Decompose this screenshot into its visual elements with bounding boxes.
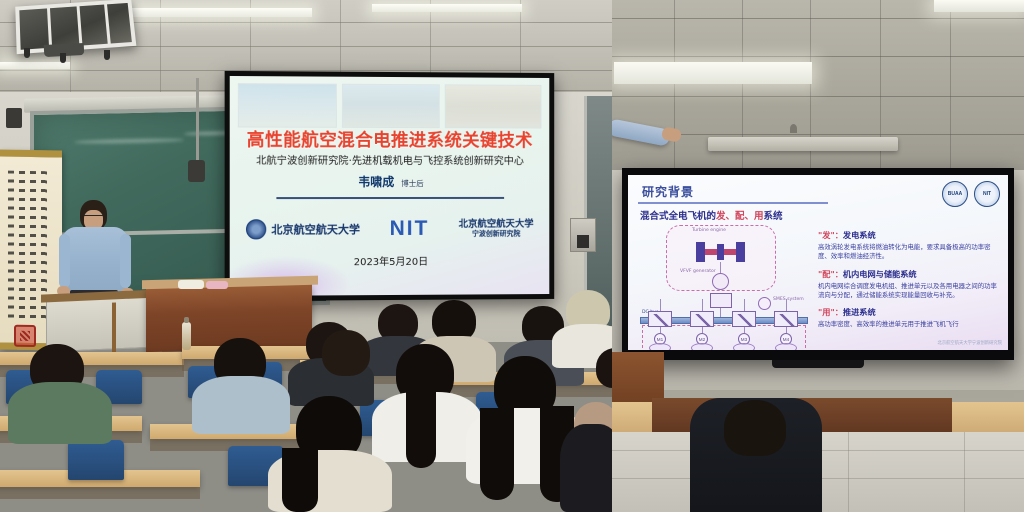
slide-divider	[276, 197, 504, 199]
motor-array: M1 M2 M3	[640, 309, 808, 350]
ac-dc-converter	[710, 293, 732, 308]
slide-logo-row: 北京航空航天大学 NIT 北京航空航天大学 宁波创新研究院	[246, 211, 534, 248]
propeller-3	[733, 343, 755, 350]
audience-ponytail	[406, 392, 436, 468]
projector-mount-foot	[104, 50, 110, 60]
slide2-subtitle: 混合式全电飞机的发、配、用系统	[640, 208, 783, 222]
section-heading-3: "用"：推进系统	[818, 306, 1000, 318]
slide-subtitle: 北航宁波创新研究院·先进机载机电与飞控系统创新研究中心	[230, 152, 550, 167]
wall-mounted-display[interactable]: 研究背景 混合式全电飞机的发、配、用系统 BUAA NIT Turbine en…	[622, 168, 1014, 360]
scroll-seal	[14, 325, 36, 347]
buaa-logo: 北京航空航天大学	[246, 219, 360, 239]
presenter-glasses	[84, 215, 103, 219]
section-3-quote: "用"：	[818, 307, 843, 317]
left-photo-panel: 高性能航空混合电推进系统关键技术 北航宁波创新研究院·先进机载机电与飞控系统创新…	[0, 0, 612, 512]
section-body-1: 高效涡轮发电系统将燃油转化为电能，要求具备极高的功率密度、效率和燃油经济性。	[818, 243, 1000, 262]
presenter-shirt	[62, 227, 128, 297]
audience-hair-fall	[480, 408, 514, 500]
audience-head	[322, 330, 370, 376]
audience-shoulders	[560, 424, 612, 512]
banner-photo-campus-gate	[238, 83, 337, 128]
audience-hair-fall	[282, 448, 318, 512]
slide-banner-photos	[238, 83, 542, 128]
section-2-quote: "配"：	[818, 269, 843, 279]
slide-research-background: 研究背景 混合式全电飞机的发、配、用系统 BUAA NIT Turbine en…	[628, 175, 1008, 350]
inverter-4	[774, 311, 798, 327]
banner-photo-campus-aerial	[342, 84, 440, 128]
presenter-left-arm	[59, 234, 70, 288]
nit-logo-text: NIT	[390, 217, 430, 241]
seated-attendee-head	[724, 400, 786, 456]
banner-photo-laboratory	[445, 84, 542, 128]
presenter-right-arm	[120, 234, 131, 288]
slide2-logo-row: BUAA NIT	[942, 181, 1000, 207]
slide-title: 高性能航空混合电推进系统关键技术	[230, 126, 550, 152]
buaa-seal-icon: BUAA	[942, 181, 968, 207]
presenter-name: 韦啸成	[358, 175, 394, 189]
generator-label: VFVF generator	[680, 269, 716, 274]
slide2-divider	[638, 202, 828, 204]
slide2-subtitle-tail: 系统	[764, 211, 783, 222]
audience-shoulders	[8, 382, 112, 444]
ceiling-light-panel	[934, 0, 1024, 12]
nit-institute-line2: 宁波创新研究院	[459, 230, 534, 238]
smes-label: SMES system	[773, 297, 804, 302]
wall-speaker	[6, 108, 22, 128]
generator-symbol	[712, 273, 729, 290]
hybrid-propulsion-diagram: Turbine engine VFVF generator SMES syste…	[640, 225, 808, 350]
presenter-rank: 博士后	[401, 179, 423, 188]
turbine-hub	[717, 244, 724, 260]
screen-pull-rod	[196, 78, 199, 164]
section-body-3: 高功率密度、高效率的推进单元用于推进飞机飞行	[818, 320, 1000, 329]
slide2-text-column: "发"：发电系统 高效涡轮发电系统将燃油转化为电能，要求具备极高的功率密度、效率…	[818, 223, 1000, 329]
inverter-1	[648, 311, 672, 327]
ceiling-light-fixture	[372, 4, 522, 12]
nit-institute-logo: 北京航空航天大学 宁波创新研究院	[459, 219, 534, 238]
buaa-logo-text: 北京航空航天大学	[271, 221, 360, 237]
slide2-footnote: 北京航空航天大学宁波创新研究院	[938, 340, 1002, 346]
desk-row	[0, 352, 184, 365]
turbine-block-left	[696, 242, 705, 262]
propeller-2	[691, 343, 713, 350]
projection-screen: 高性能航空混合电推进系统关键技术 北航宁波创新研究院·先进机载机电与飞控系统创新…	[225, 71, 555, 301]
propeller-4	[775, 343, 797, 350]
section-2-title: 机内电网与储能系统	[843, 269, 917, 279]
nit-institute-line1: 北京航空航天大学	[459, 218, 534, 229]
inverter-3	[732, 311, 756, 327]
section-1-quote: "发"：	[818, 230, 843, 240]
projector-mount-foot	[24, 48, 30, 58]
nit-seal-icon: NIT	[974, 181, 1000, 207]
pink-folder	[206, 281, 228, 289]
propeller-1	[649, 343, 671, 350]
av-control-panel[interactable]	[570, 218, 596, 252]
projector-mount-foot	[60, 53, 66, 63]
slide-title-page: 高性能航空混合电推进系统关键技术 北航宁波创新研究院·先进机载机电与飞控系统创新…	[230, 76, 550, 296]
water-bottle	[182, 322, 191, 350]
ceiling-light-panel	[614, 62, 812, 84]
slide2-subtitle-plain: 混合式全电飞机的	[640, 211, 716, 222]
buaa-crest-icon	[246, 219, 266, 239]
desk-items	[178, 278, 242, 290]
section-body-2: 机内电网综合调度发电机组、推进单元以及各用电器之间的功率流向与分配，通过储能系统…	[818, 282, 1000, 301]
slide2-subtitle-highlight: 发、配、用	[716, 211, 764, 222]
slide-presenter: 韦啸成博士后	[230, 173, 550, 190]
section-heading-2: "配"：机内电网与储能系统	[818, 268, 1000, 280]
screen-rod-handle	[188, 160, 205, 182]
ceiling-light-fixture	[132, 8, 312, 17]
section-3-title: 推进系统	[843, 307, 876, 317]
slide2-title: 研究背景	[642, 183, 694, 200]
section-1-title: 发电系统	[843, 230, 876, 240]
audience-shoulders	[192, 376, 290, 434]
turbine-block-right	[736, 242, 745, 262]
right-photo-panel: 研究背景 混合式全电飞机的发、配、用系统 BUAA NIT Turbine en…	[612, 0, 1024, 512]
paper-stack	[178, 280, 204, 289]
ceiling-light-fixture	[0, 62, 70, 69]
classroom-chair	[68, 440, 124, 480]
screenshot-root: 高性能航空混合电推进系统关键技术 北航宁波创新研究院·先进机载机电与飞控系统创新…	[0, 0, 1024, 512]
sprinkler-head	[790, 124, 797, 133]
inverter-2	[690, 311, 714, 327]
ceiling-light-housing	[708, 137, 898, 151]
turbine-engine-label: Turbine engine	[692, 228, 726, 233]
section-heading-1: "发"：发电系统	[818, 229, 1000, 241]
